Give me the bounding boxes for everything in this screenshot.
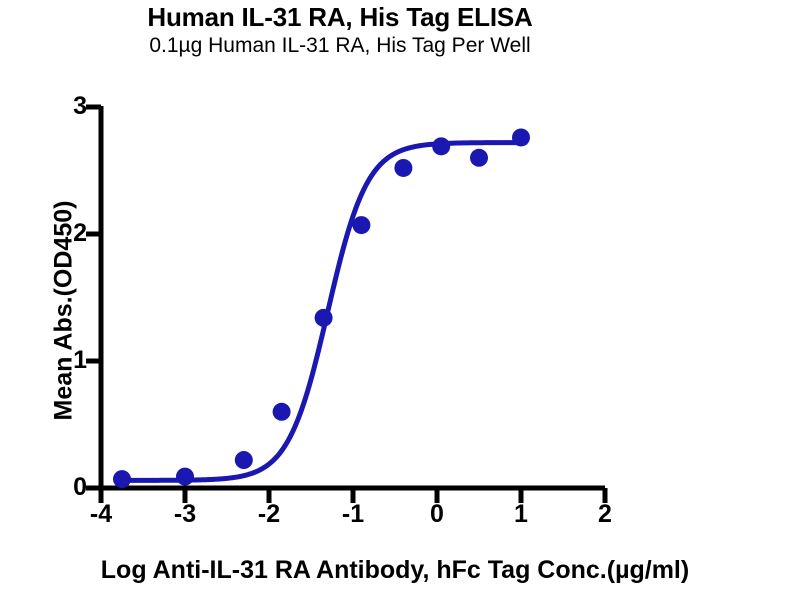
data-point — [470, 149, 488, 167]
data-point-markers — [113, 128, 530, 488]
data-point — [235, 451, 253, 469]
chart-page: Human IL-31 RA, His Tag ELISA 0.1µg Huma… — [0, 0, 800, 600]
data-point — [315, 309, 333, 327]
data-point — [432, 137, 450, 155]
data-point — [113, 470, 131, 488]
plot-area: Mean Abs.(OD450) Log Anti-IL-31 RA Antib… — [0, 0, 800, 600]
data-point — [176, 468, 194, 486]
plot-canvas — [0, 0, 800, 600]
data-point — [394, 159, 412, 177]
data-point — [352, 216, 370, 234]
data-point — [512, 128, 530, 146]
data-point — [273, 403, 291, 421]
